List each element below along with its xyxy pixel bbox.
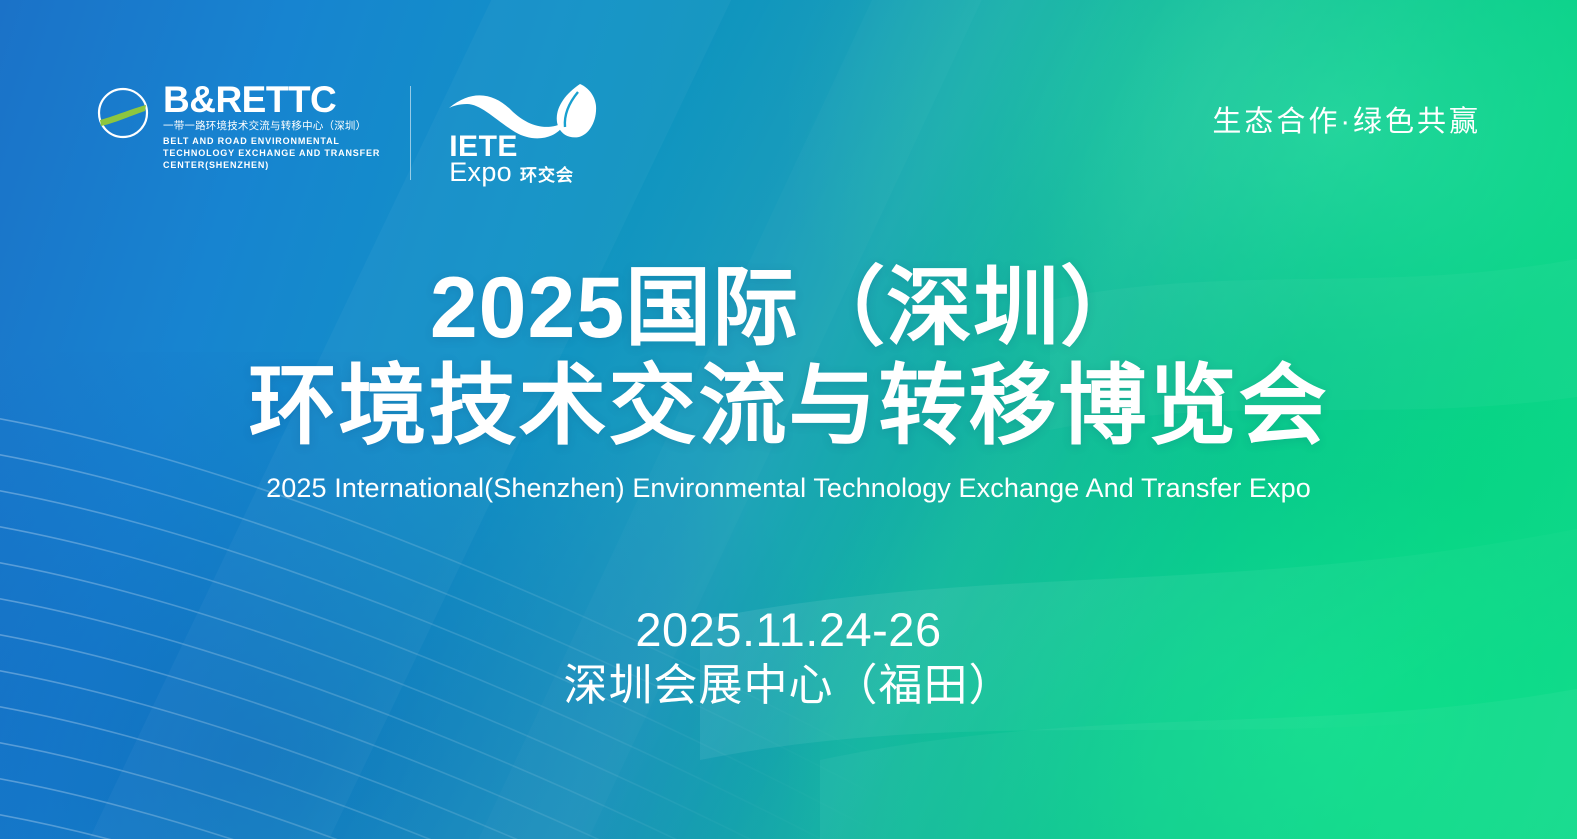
logo-group: B&RETTC 一带一路环境技术交流与转移中心（深圳） BELT AND ROA…	[92, 82, 609, 186]
brettc-chinese-name: 一带一路环境技术交流与转移中心（深圳）	[163, 119, 380, 135]
brettc-english-line-2: TECHNOLOGY EXCHANGE AND TRANSFER	[163, 147, 380, 159]
banner-main-title: 2025国际（深圳） 环境技术交流与转移博览会 2025 Internation…	[0, 262, 1577, 504]
brettc-wordmark: B&RETTC	[163, 82, 380, 118]
event-venue: 深圳会展中心（福田）	[0, 659, 1577, 713]
logo-divider	[410, 86, 411, 180]
event-banner: B&RETTC 一带一路环境技术交流与转移中心（深圳） BELT AND ROA…	[0, 0, 1577, 839]
iete-expo-logo[interactable]: IETE Expo 环交会	[441, 82, 609, 186]
brettc-english-line-3: CENTER(SHENZHEN)	[163, 159, 380, 171]
event-date: 2025.11.24-26	[0, 602, 1577, 657]
iete-expo-word: Expo	[449, 159, 512, 186]
subtitle-english: 2025 International(Shenzhen) Environment…	[0, 473, 1577, 504]
event-info: 2025.11.24-26 深圳会展中心（福田）	[0, 602, 1577, 713]
banner-header: B&RETTC 一带一路环境技术交流与转移中心（深圳） BELT AND ROA…	[0, 82, 1577, 192]
brettc-circle-band-icon	[92, 84, 154, 142]
brettc-logo[interactable]: B&RETTC 一带一路环境技术交流与转移中心（深圳） BELT AND ROA…	[92, 82, 380, 171]
title-line-1: 2025国际（深圳）	[0, 262, 1577, 355]
iete-chinese-name: 环交会	[520, 167, 574, 184]
brettc-english-line-1: BELT AND ROAD ENVIRONMENTAL	[163, 135, 380, 147]
banner-slogan: 生态合作·绿色共赢	[1212, 98, 1481, 140]
title-line-2: 环境技术交流与转移博览会	[0, 357, 1577, 456]
